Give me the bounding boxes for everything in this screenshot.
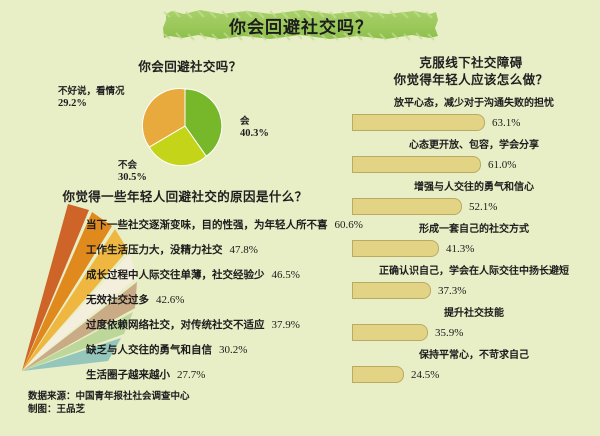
infographic-root: 你会回避社交吗？ 你会回避社交吗？ 会 40.3% 不会 30.5% 不好说，看… <box>0 0 600 436</box>
footer-source: 数据来源：中国青年报社社会调查中心 <box>28 390 190 403</box>
bar-item: 正确认识自己，学会在人际交往中扬长避短 37.3% <box>352 264 596 300</box>
bar-label: 提升社交技能 <box>352 306 596 321</box>
bar-fill <box>352 156 481 173</box>
bar-track <box>352 324 428 341</box>
bar-track <box>352 282 431 299</box>
pie-chart: 会 40.3% 不会 30.5% 不好说，看情况 29.2% <box>60 78 320 174</box>
reason-label: 过度依赖网络社交，对传统社交不适应 <box>86 317 265 332</box>
reason-value: 47.8% <box>230 244 258 256</box>
pie-label-depends-text: 不好说，看情况 <box>58 86 125 97</box>
reason-label: 缺乏与人交往的勇气和自信 <box>86 342 212 357</box>
reason-label: 成长过程中人际交往单薄，社交经验少 <box>86 267 265 282</box>
reason-item: 成长过程中人际交往单薄，社交经验少 46.5% <box>86 262 386 287</box>
bar-track <box>352 366 404 383</box>
bar-value: 61.0% <box>488 159 516 171</box>
bar-item: 提升社交技能 35.9% <box>352 306 596 342</box>
pie-label-no: 不会 30.5% <box>118 160 147 184</box>
bar-value: 63.1% <box>492 117 520 129</box>
page-title: 你会回避社交吗？ <box>162 8 440 42</box>
bar-label: 放平心态，减少对于沟通失败的担忧 <box>352 96 596 111</box>
bar-row: 63.1% <box>352 113 596 132</box>
bar-item: 心态更开放、包容，学会分享 61.0% <box>352 138 596 174</box>
reason-item: 当下一些社交逐渐变味，目的性强，为年轻人所不喜 60.6% <box>86 212 386 237</box>
reason-item: 生活圈子越来越小 27.7% <box>86 362 386 387</box>
bar-row: 24.5% <box>352 365 596 384</box>
bar-label: 心态更开放、包容，学会分享 <box>352 138 596 153</box>
bar-label: 正确认识自己，学会在人际交往中扬长避短 <box>352 264 596 279</box>
bar-track <box>352 240 439 257</box>
bar-fill <box>352 114 485 131</box>
pie-section-title: 你会回避社交吗？ <box>60 56 320 75</box>
reason-label: 工作生活压力大，没精力社交 <box>86 242 223 257</box>
bar-label: 增强与人交往的勇气和信心 <box>352 180 596 195</box>
bar-row: 52.1% <box>352 197 596 216</box>
bar-label: 保持平常心，不苛求自己 <box>352 348 596 363</box>
bar-label: 形成一套自己的社交方式 <box>352 222 596 237</box>
bar-track <box>352 198 462 215</box>
bar-fill <box>352 282 431 299</box>
bar-value: 24.5% <box>411 369 439 381</box>
reason-value: 30.2% <box>219 344 247 356</box>
bars-section-title: 克服线下社交障碍 你觉得年轻人应该怎么做？ <box>346 54 596 88</box>
reason-item: 过度依赖网络社交，对传统社交不适应 37.9% <box>86 312 386 337</box>
bar-row: 41.3% <box>352 239 596 258</box>
footer: 数据来源：中国青年报社社会调查中心 制图：王品芝 <box>28 390 190 416</box>
pie-label-no-value: 30.5% <box>118 172 147 183</box>
bar-fill <box>352 324 428 341</box>
reason-value: 27.7% <box>177 369 205 381</box>
pie-label-yes-text: 会 <box>240 116 250 127</box>
bar-fill <box>352 198 462 215</box>
bar-track <box>352 114 485 131</box>
bars-title-line2: 你觉得年轻人应该怎么做？ <box>394 72 549 87</box>
reason-value: 46.5% <box>272 269 300 281</box>
reasons-list: 当下一些社交逐渐变味，目的性强，为年轻人所不喜 60.6% 工作生活压力大，没精… <box>86 212 386 387</box>
bar-row: 37.3% <box>352 281 596 300</box>
pie-label-yes-value: 40.3% <box>240 128 269 139</box>
footer-credit: 制图：王品芝 <box>28 403 190 416</box>
bars-chart: 放平心态，减少对于沟通失败的担忧 63.1% 心态更开放、包容，学会分享 61.… <box>352 96 596 390</box>
bar-fill <box>352 366 404 383</box>
reason-label: 生活圈子越来越小 <box>86 367 170 382</box>
bar-track <box>352 156 481 173</box>
bar-value: 35.9% <box>435 327 463 339</box>
reason-item: 缺乏与人交往的勇气和自信 30.2% <box>86 337 386 362</box>
bar-item: 形成一套自己的社交方式 41.3% <box>352 222 596 258</box>
reason-label: 无效社交过多 <box>86 292 149 307</box>
reason-value: 42.6% <box>156 294 184 306</box>
bar-row: 35.9% <box>352 323 596 342</box>
pie-label-depends: 不好说，看情况 29.2% <box>58 86 125 110</box>
bars-title-line1: 克服线下社交障碍 <box>419 55 522 70</box>
bar-row: 61.0% <box>352 155 596 174</box>
bar-item: 保持平常心，不苛求自己 24.5% <box>352 348 596 384</box>
reason-value: 37.9% <box>272 319 300 331</box>
pie-label-yes: 会 40.3% <box>240 116 269 140</box>
reason-item: 无效社交过多 42.6% <box>86 287 386 312</box>
reason-item: 工作生活压力大，没精力社交 47.8% <box>86 237 386 262</box>
pie-label-depends-value: 29.2% <box>58 98 87 109</box>
bar-value: 52.1% <box>469 201 497 213</box>
bar-value: 37.3% <box>438 285 466 297</box>
bar-item: 增强与人交往的勇气和信心 52.1% <box>352 180 596 216</box>
bar-item: 放平心态，减少对于沟通失败的担忧 63.1% <box>352 96 596 132</box>
bar-value: 41.3% <box>446 243 474 255</box>
pie-label-no-text: 不会 <box>118 160 137 171</box>
reason-label: 当下一些社交逐渐变味，目的性强，为年轻人所不喜 <box>86 217 328 232</box>
bar-fill <box>352 240 439 257</box>
title-banner: 你会回避社交吗？ <box>162 8 440 42</box>
